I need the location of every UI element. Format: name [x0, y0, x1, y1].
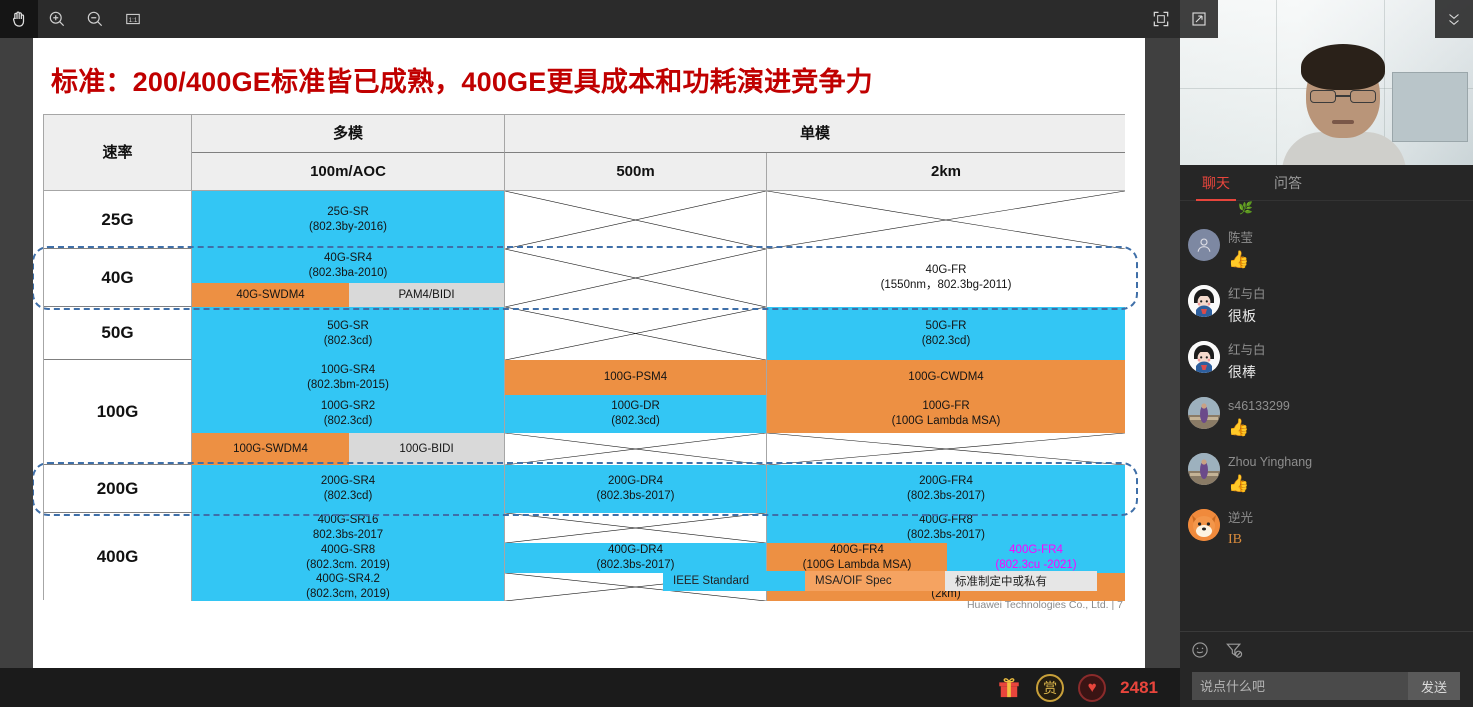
cell-100g-500m-extra-empty	[505, 433, 767, 465]
hand-tool-button[interactable]	[0, 0, 38, 38]
table-header-500m: 500m	[505, 153, 767, 191]
cross-out-icon	[767, 433, 1125, 465]
collapse-video-button[interactable]	[1435, 0, 1473, 38]
cell-100g-sr4: 100G-SR4 (802.3bm-2015)	[192, 360, 505, 395]
clipped-message-top: 🌿	[1180, 205, 1473, 223]
chat-input-group: 发送	[1192, 672, 1460, 700]
cross-out-icon	[505, 249, 766, 307]
tab-chat[interactable]: 聊天	[1180, 165, 1252, 201]
chat-input-bar: 发送	[1180, 631, 1473, 707]
send-button[interactable]: 发送	[1408, 672, 1460, 700]
cell-400g-fr4-802-3cu: 400G-FR4 (802.3cu -2021)	[947, 543, 1125, 573]
message-nickname: Zhou Yinghang	[1228, 453, 1463, 471]
cross-out-icon	[505, 513, 766, 543]
zoom-in-icon	[47, 9, 67, 29]
speaker-video-tile[interactable]	[1180, 0, 1473, 165]
fox-cartoon-icon	[1188, 509, 1220, 541]
cell-25g-100m: 25G-SR (802.3by-2016)	[192, 191, 505, 249]
legend-item-ieee: IEEE Standard	[663, 571, 805, 591]
table-header-speed: 速率	[44, 115, 192, 191]
photo-avatar-icon	[1188, 397, 1220, 429]
list-item: 逆光 IB	[1180, 503, 1473, 559]
legend-label-ieee: IEEE Standard	[673, 575, 749, 587]
cell-25g-500m-empty	[505, 191, 767, 249]
chat-message-list[interactable]: 🌿 陈莹 👍	[1180, 201, 1473, 631]
table-header-singlemode: 单模	[505, 115, 1125, 153]
legend-label-proprietary: 标准制定中或私有	[955, 573, 1047, 589]
slide-footer: Huawei Technologies Co., Ltd. | 7	[967, 599, 1123, 611]
partial-emoji-icon: 🌿	[1238, 201, 1253, 215]
message-body: 很棒	[1228, 361, 1463, 383]
cell-50g-500m-empty	[505, 307, 767, 360]
tab-chat-label: 聊天	[1202, 173, 1230, 193]
chat-input[interactable]	[1192, 672, 1408, 700]
cell-400g-sr4-2: 400G-SR4.2 (802.3cm, 2019)	[192, 573, 505, 601]
row-label-40g: 40G	[44, 249, 192, 307]
table-header-multimode: 多模	[192, 115, 505, 153]
row-label-50g: 50G	[44, 307, 192, 360]
cell-200g-sr4: 200G-SR4 (802.3cd)	[192, 465, 505, 513]
avatar[interactable]	[1188, 229, 1220, 261]
standards-comparison-table: 速率 多模 单模 100m/AOC 500m 2km	[43, 114, 1125, 600]
cell-100g-cwdm4: 100G-CWDM4	[767, 360, 1125, 395]
message-nickname: 陈莹	[1228, 229, 1463, 247]
message-body: 很板	[1228, 305, 1463, 327]
like-button[interactable]: ♥	[1078, 674, 1106, 702]
avatar[interactable]	[1188, 453, 1220, 485]
right-panel: 聊天 问答 🌿 陈莹 👍	[1180, 0, 1473, 707]
message-body: 👍	[1228, 417, 1463, 439]
slide-canvas: 标准：200/400GE标准皆已成熟，400GE更具成本和功耗演进竞争力 速率 …	[33, 38, 1145, 668]
cross-out-icon	[505, 307, 766, 360]
avatar[interactable]	[1188, 509, 1220, 541]
like-count: 2481	[1120, 678, 1158, 698]
list-item: 红与白 很棒	[1180, 335, 1473, 391]
emoji-icon	[1190, 640, 1210, 660]
heart-icon: ♥	[1088, 679, 1097, 696]
cell-200g-dr4: 200G-DR4 (802.3bs-2017)	[505, 465, 767, 513]
list-item: Zhou Yinghang 👍	[1180, 447, 1473, 503]
message-nickname: 红与白	[1228, 285, 1463, 303]
legend: IEEE Standard MSA/OIF Spec 标准制定中或私有	[663, 571, 1097, 591]
speaker-hair	[1301, 44, 1385, 90]
cell-100g-bidi: 100G-BIDI	[349, 433, 505, 465]
cell-25g-2km-empty	[767, 191, 1125, 249]
cell-40g-pam4-bidi: PAM4/BIDI	[349, 283, 505, 307]
tab-qa[interactable]: 问答	[1252, 165, 1324, 201]
row-label-400g: 400G	[44, 513, 192, 601]
collapse-icon	[1445, 10, 1463, 28]
fullscreen-button[interactable]	[1142, 0, 1180, 38]
avatar[interactable]	[1188, 397, 1220, 429]
cell-100g-psm4: 100G-PSM4	[505, 360, 767, 395]
message-body: 👍	[1228, 473, 1463, 495]
cell-100g-dr: 100G-DR (802.3cd)	[505, 395, 767, 433]
reward-button[interactable]: 赏	[1036, 674, 1064, 702]
message-nickname: 逆光	[1228, 509, 1463, 527]
cell-100g-fr: 100G-FR (100G Lambda MSA)	[767, 395, 1125, 433]
video-whiteboard	[1392, 72, 1468, 142]
cell-400g-dr4: 400G-DR4 (802.3bs-2017)	[505, 543, 767, 573]
slide-title: 标准：200/400GE标准皆已成熟，400GE更具成本和功耗演进竞争力	[51, 60, 873, 99]
speaker-figure	[1288, 46, 1400, 165]
person-placeholder-icon	[1194, 235, 1214, 255]
expand-video-button[interactable]	[1180, 0, 1218, 38]
glasses-icon	[1310, 90, 1376, 103]
filter-off-icon	[1224, 640, 1244, 660]
presentation-toolbar: 1:1	[0, 0, 1180, 38]
avatar[interactable]	[1188, 285, 1220, 317]
chat-tab-bar: 聊天 问答	[1180, 165, 1473, 201]
filter-button[interactable]	[1224, 640, 1244, 665]
actual-size-button[interactable]: 1:1	[114, 0, 152, 38]
cell-400g-sr16: 400G-SR16 802.3bs-2017	[192, 513, 505, 543]
gift-button[interactable]	[996, 675, 1022, 701]
tab-qa-label: 问答	[1274, 173, 1302, 193]
cell-400g-sr8: 400G-SR8 (802.3cm. 2019)	[192, 543, 505, 573]
chat-tools	[1190, 640, 1244, 665]
girl-cartoon-icon	[1188, 341, 1220, 373]
hand-icon	[9, 9, 29, 29]
fullscreen-icon	[1151, 9, 1171, 29]
table-header-100m-aoc: 100m/AOC	[192, 153, 505, 191]
message-body: IB	[1228, 529, 1463, 551]
one-to-one-icon: 1:1	[123, 9, 143, 29]
zoom-out-button[interactable]	[76, 0, 114, 38]
list-item: 陈莹 👍	[1180, 223, 1473, 279]
presentation-stage[interactable]: 标准：200/400GE标准皆已成熟，400GE更具成本和功耗演进竞争力 速率 …	[0, 38, 1180, 668]
cell-400g-sr16-500m-empty	[505, 513, 767, 543]
emoji-button[interactable]	[1190, 640, 1210, 665]
list-item: 红与白 很板	[1180, 279, 1473, 335]
video-wall-line-v1	[1276, 0, 1277, 165]
legend-item-msa: MSA/OIF Spec	[805, 571, 945, 591]
live-stream-window: 1:1 标准：200/400GE标准皆已成熟，400GE更具成本和功耗演进竞争力…	[0, 0, 1473, 707]
cross-out-icon	[767, 191, 1125, 249]
cell-40g-fr: 40G-FR (1550nm，802.3bg-2011)	[767, 249, 1125, 307]
zoom-in-button[interactable]	[38, 0, 76, 38]
cell-100g-sr2: 100G-SR2 (802.3cd)	[192, 395, 505, 433]
zoom-out-icon	[85, 9, 105, 29]
gift-icon	[996, 675, 1022, 701]
row-label-100g: 100G	[44, 360, 192, 465]
reward-glyph: 赏	[1043, 678, 1057, 698]
cell-100g-2km-extra-empty	[767, 433, 1125, 465]
message-body: 👍	[1228, 249, 1463, 271]
cell-40g-swdm4: 40G-SWDM4	[192, 283, 349, 307]
table-header-2km: 2km	[767, 153, 1125, 191]
cell-100g-swdm4: 100G-SWDM4	[192, 433, 349, 465]
svg-text:1:1: 1:1	[129, 17, 138, 24]
cell-40g-sr4: 40G-SR4 (802.3ba-2010)	[192, 249, 505, 283]
expand-icon	[1190, 10, 1208, 28]
girl-cartoon-icon	[1188, 285, 1220, 317]
photo-avatar-icon	[1188, 453, 1220, 485]
legend-label-msa: MSA/OIF Spec	[815, 575, 892, 587]
message-nickname: s46133299	[1228, 397, 1463, 415]
cross-out-icon	[505, 191, 766, 249]
speaker-mouth	[1332, 120, 1354, 124]
cell-400g-fr4-msa: 400G-FR4 (100G Lambda MSA)	[767, 543, 947, 573]
cell-200g-fr4: 200G-FR4 (802.3bs-2017)	[767, 465, 1125, 513]
cell-50g-sr: 50G-SR (802.3cd)	[192, 307, 505, 360]
list-item: s46133299 👍	[1180, 391, 1473, 447]
message-nickname: 红与白	[1228, 341, 1463, 359]
row-label-25g: 25G	[44, 191, 192, 249]
legend-item-proprietary: 标准制定中或私有	[945, 571, 1097, 591]
cell-400g-fr8: 400G-FR8 (802.3bs-2017)	[767, 513, 1125, 543]
bottom-action-bar: 赏 ♥ 2481	[0, 668, 1180, 707]
row-label-200g: 200G	[44, 465, 192, 513]
cell-40g-500m-empty	[505, 249, 767, 307]
avatar[interactable]	[1188, 341, 1220, 373]
cross-out-icon	[505, 433, 766, 465]
cell-50g-fr: 50G-FR (802.3cd)	[767, 307, 1125, 360]
